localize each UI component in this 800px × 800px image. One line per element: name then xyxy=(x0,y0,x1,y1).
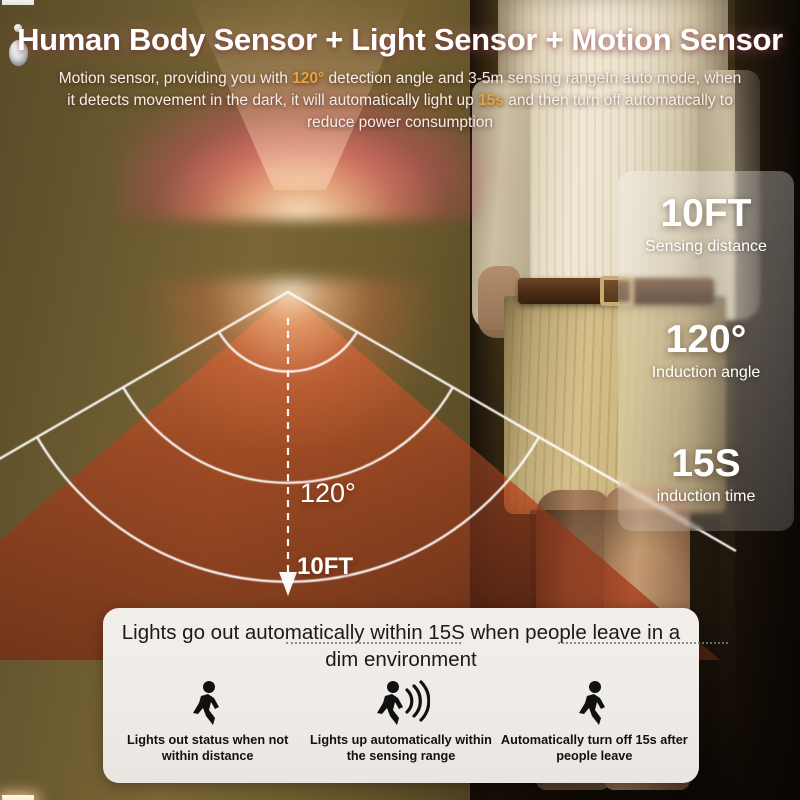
cone-angle-label: 120° xyxy=(300,478,356,509)
subtitle-text-1: Motion sensor, providing you with xyxy=(59,70,292,87)
cone-edge-left xyxy=(0,292,288,551)
subtitle-highlight-angle: 120° xyxy=(292,70,324,87)
bottom-item-caption: Lights out status when not within distan… xyxy=(111,732,304,764)
center-axis-arrowhead xyxy=(279,572,297,596)
spec-value: 15S xyxy=(618,443,794,485)
cone-distance-label: 10FT xyxy=(297,553,353,581)
spec-item-induction-angle: 120° Induction angle xyxy=(618,319,794,384)
spec-item-induction-time: 15S induction time xyxy=(618,443,794,508)
product-infographic: Human Body Sensor + Light Sensor + Motio… xyxy=(0,0,800,800)
detection-arc-3 xyxy=(37,437,539,582)
walking-person-icon xyxy=(498,680,691,726)
bottom-item-lights-up: Lights up automatically within the sensi… xyxy=(304,680,497,776)
spec-label: Sensing distance xyxy=(618,236,794,258)
device-top-cap xyxy=(2,0,34,5)
walking-person-icon xyxy=(111,680,304,726)
spec-value: 10FT xyxy=(618,193,794,235)
spec-label: induction time xyxy=(618,486,794,508)
bottom-item-turn-off: Automatically turn off 15s after people … xyxy=(498,680,691,776)
spec-item-sensing-distance: 10FT Sensing distance xyxy=(618,193,794,258)
bottom-item-caption: Lights up automatically within the sensi… xyxy=(304,732,497,764)
spec-value: 120° xyxy=(618,319,794,361)
spec-panel: 10FT Sensing distance 120° Induction ang… xyxy=(618,171,794,531)
bottom-info-panel: Lights go out automatically within 15S w… xyxy=(103,608,699,783)
page-subtitle: Motion sensor, providing you with 120° d… xyxy=(55,68,745,134)
center-axis xyxy=(279,318,297,596)
device-bottom-light xyxy=(2,795,34,800)
bottom-item-list: Lights out status when not within distan… xyxy=(111,680,691,776)
spec-label: Induction angle xyxy=(618,362,794,384)
bottom-item-caption: Automatically turn off 15s after people … xyxy=(498,732,691,764)
bottom-item-lights-out: Lights out status when not within distan… xyxy=(111,680,304,776)
connector-dots-left xyxy=(286,642,461,644)
subtitle-highlight-time: 15s xyxy=(478,92,504,109)
page-title: Human Body Sensor + Light Sensor + Motio… xyxy=(0,22,800,58)
bottom-headline: Lights go out automatically within 15S w… xyxy=(117,619,685,673)
walking-person-signal-icon xyxy=(304,680,497,726)
connector-dots-right xyxy=(558,642,728,644)
